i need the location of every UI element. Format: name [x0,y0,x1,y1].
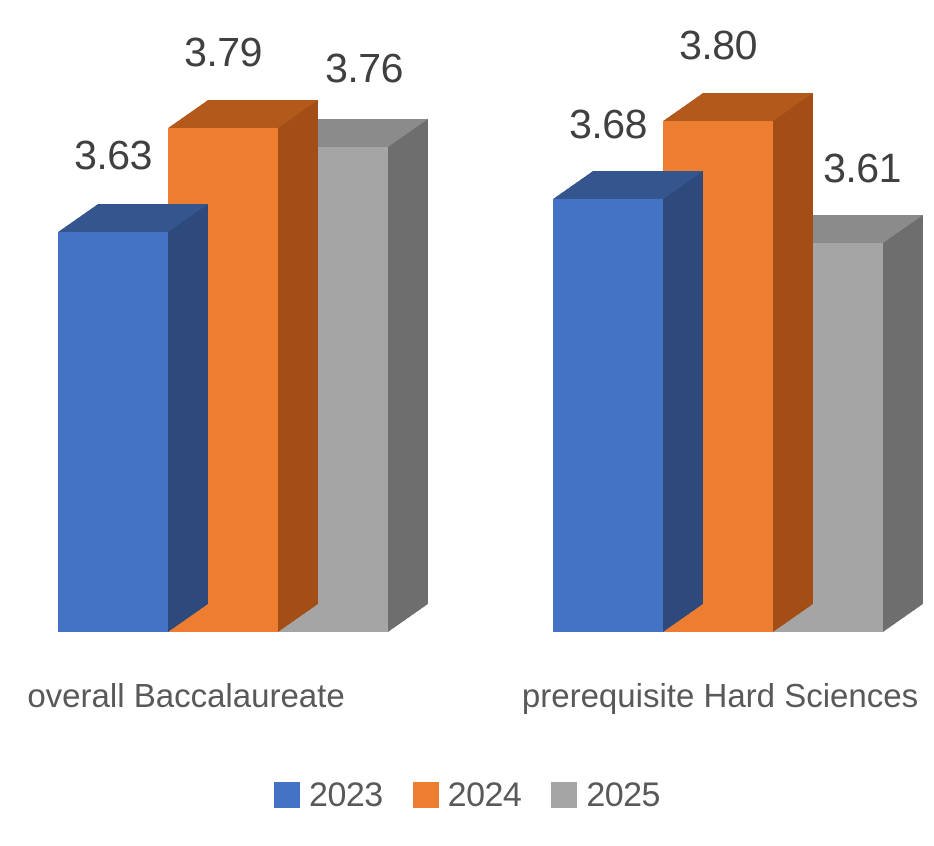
bar-front-face-2023 [553,199,663,632]
data-label-2023-1: 3.63 [74,135,152,176]
bars-svg [0,0,934,660]
bar-2023[interactable] [553,171,703,632]
legend-entry-2024[interactable]: 2024 [413,778,522,812]
category-label-1: overall Baccalaureate [27,676,344,716]
bars-group [58,93,923,632]
bar-front-face-2023 [58,232,168,632]
data-label-2024-1: 3.79 [184,32,262,73]
legend-swatch-2025 [551,782,577,808]
bar-2023[interactable] [58,204,208,632]
bar-side-face-2023 [663,171,703,632]
category-label-2: prerequisite Hard Sciences [522,676,918,716]
data-label-2025-2: 3.61 [823,148,901,189]
data-label-2024-2: 3.80 [679,25,757,66]
legend-entry-2025[interactable]: 2025 [551,778,660,812]
plot-area: 3.633.793.763.683.803.61 [0,0,934,660]
bar-side-face-2025 [388,119,428,632]
chart-legend: 2023 2024 2025 [0,778,934,812]
legend-entry-2023[interactable]: 2023 [274,778,383,812]
legend-swatch-2024 [413,782,439,808]
data-label-2025-1: 3.76 [325,48,403,89]
legend-label-2024: 2024 [448,778,522,812]
bar-side-face-2024 [773,93,813,632]
legend-swatch-2023 [274,782,300,808]
bar-side-face-2023 [168,204,208,632]
chart-root: 3.633.793.763.683.803.61 overall Baccala… [0,0,934,846]
category-axis: overall Baccalaureateprerequisite Hard S… [0,676,934,736]
data-label-2023-2: 3.68 [569,104,647,145]
legend-label-2025: 2025 [586,778,660,812]
legend-label-2023: 2023 [309,778,383,812]
bar-side-face-2025 [883,215,923,632]
bar-side-face-2024 [278,100,318,632]
